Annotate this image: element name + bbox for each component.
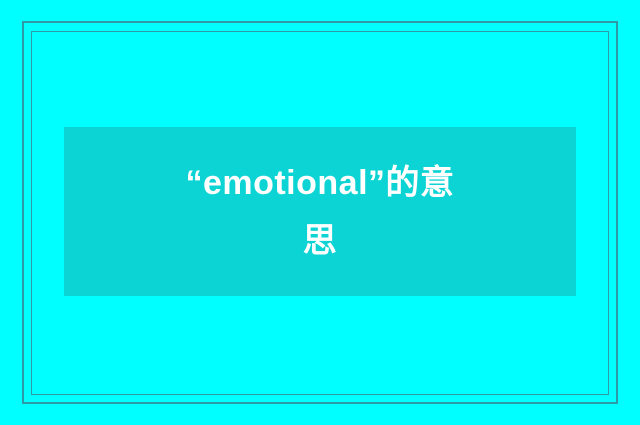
title-text: “emotional”的意思	[170, 154, 470, 270]
page-canvas: “emotional”的意思	[0, 0, 640, 425]
title-card: “emotional”的意思	[64, 127, 576, 296]
